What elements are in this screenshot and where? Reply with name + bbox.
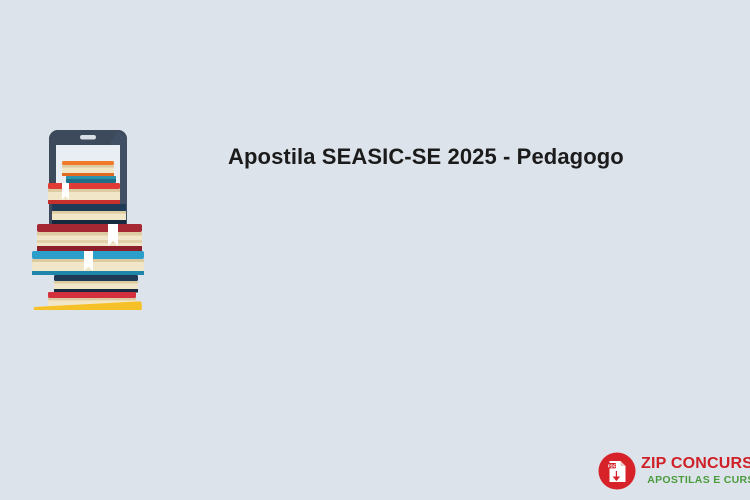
pdf-file-glyph: PDF [608,461,626,484]
title-block: Apostila SEASIC-SE 2025 - Pedagogo [228,142,658,172]
brand-tagline: APOSTILAS E CURSOS [641,475,750,486]
page-title: Apostila SEASIC-SE 2025 - Pedagogo [228,142,624,172]
book-layer-teal-thin [66,176,116,183]
page-root: Apostila SEASIC-SE 2025 - Pedagogo PDF Z… [0,0,750,500]
book-layer-orange-top [62,161,114,176]
pdf-download-icon: PDF [598,452,636,490]
book-layer-red [48,183,120,204]
stack-of-books-with-tablet-illustration [12,128,172,310]
book-layer-blue [32,251,144,275]
book-layer-maroon [37,224,142,251]
svg-text:PDF: PDF [608,463,617,468]
book-layer-navy-upper [52,204,126,224]
brand-logo-text: ZIP CONCURSOS APOSTILAS E CURSOS [641,456,750,486]
brand-name: ZIP CONCURSOS [641,456,750,472]
books-illustration-svg [12,128,172,310]
book-layer-navy-lower [54,275,138,293]
pdf-download-icon-svg: PDF [598,452,636,490]
brand-logo[interactable]: PDF ZIP CONCURSOS APOSTILAS E CURSOS [598,450,744,492]
